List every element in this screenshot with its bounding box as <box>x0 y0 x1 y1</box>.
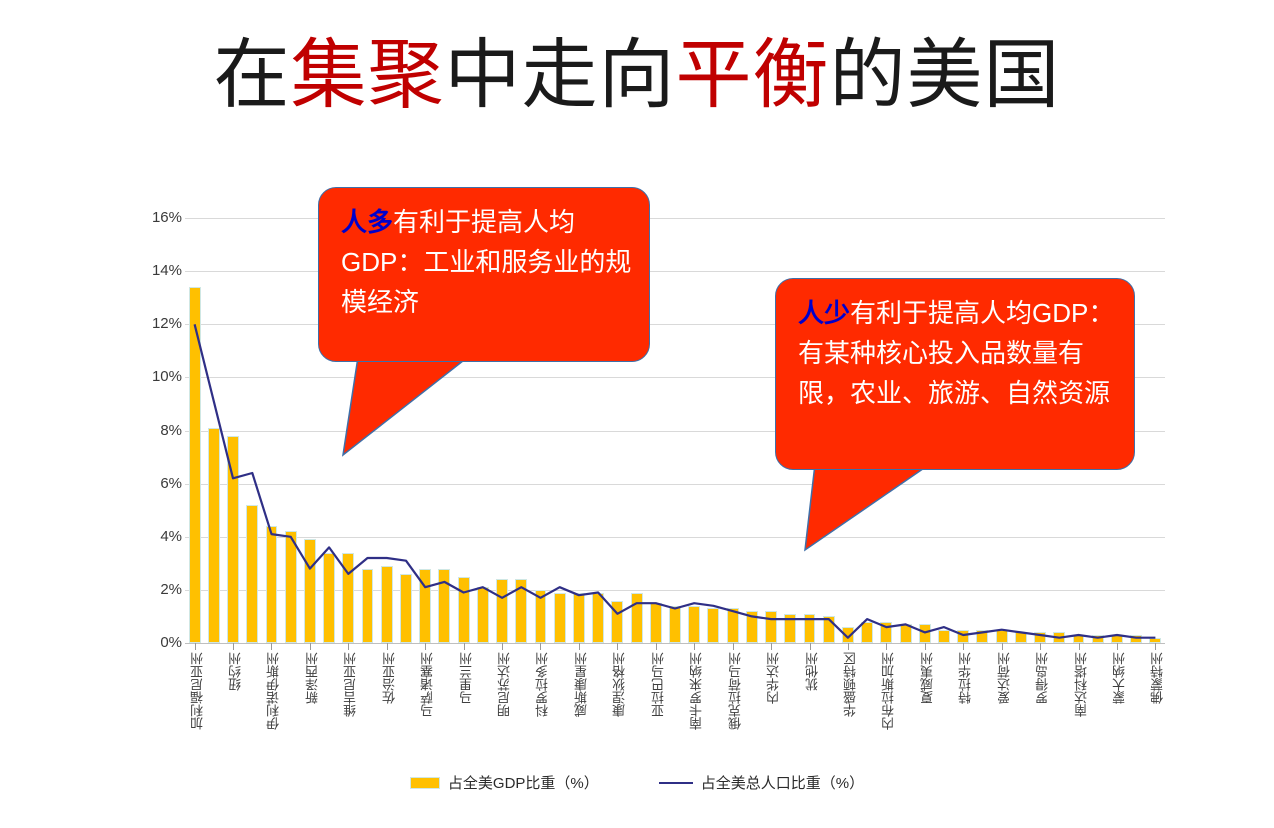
x-axis-label: 南卡罗来纳州 <box>687 652 706 730</box>
chart-legend: 占全美GDP比重（%） 占全美总人口比重（%） <box>0 772 1274 793</box>
callout-left-highlight: 人多 <box>341 207 393 237</box>
title-segment-1: 在 <box>214 33 291 118</box>
x-axis-tick <box>1002 643 1003 650</box>
x-axis-tick <box>1040 643 1041 650</box>
slide-canvas: 在集聚中走向平衡的美国 0%2%4%6%8%10%12%14%16% 加利福尼亚… <box>0 0 1274 828</box>
x-axis-tick <box>656 643 657 650</box>
x-axis-tick <box>387 643 388 650</box>
legend-label-gdp-share: 占全美GDP比重（%） <box>448 772 599 793</box>
x-axis-tick <box>271 643 272 650</box>
callout-left[interactable]: 人多有利于提高人均GDP：工业和服务业的规模经济 <box>318 187 658 462</box>
x-axis-label: 亚拉巴马州 <box>649 652 668 717</box>
x-axis-tick <box>963 643 964 650</box>
callout-right[interactable]: 人少有利于提高人均GDP：有某种核心投入品数量有限，农业、旅游、自然资源 <box>775 278 1143 558</box>
x-axis-label: 康涅狄格州 <box>610 652 629 717</box>
title-segment-4-highlight: 平衡 <box>676 33 830 118</box>
x-axis-tick <box>540 643 541 650</box>
x-axis-label: 纽约州 <box>226 652 245 691</box>
x-axis-tick <box>771 643 772 650</box>
x-axis-tick <box>694 643 695 650</box>
x-axis-tick <box>233 643 234 650</box>
x-axis-label: 明尼苏达州 <box>495 652 514 717</box>
x-axis-tick <box>579 643 580 650</box>
x-axis-label: 维吉尼亚州 <box>341 652 360 717</box>
x-axis-tick <box>1117 643 1118 650</box>
x-axis-label: 科罗拉多州 <box>533 652 552 717</box>
x-axis-tick <box>848 643 849 650</box>
x-axis-label: 马萨诸塞州 <box>418 652 437 717</box>
x-axis-tick <box>425 643 426 650</box>
x-axis-tick <box>502 643 503 650</box>
legend-swatch-line-icon <box>659 782 693 784</box>
x-axis-tick <box>195 643 196 650</box>
title-segment-2-highlight: 集聚 <box>291 33 445 118</box>
x-axis-tick <box>310 643 311 650</box>
x-axis-label: 内布拉斯加州 <box>879 652 898 730</box>
x-axis-label: 蒙大纳州 <box>1110 652 1129 704</box>
y-axis-tick-label: 0% <box>122 634 182 651</box>
x-axis-label: 夏威夷州 <box>918 652 937 704</box>
legend-swatch-bar-icon <box>410 777 440 789</box>
x-axis-tick <box>348 643 349 650</box>
legend-item-population-share[interactable]: 占全美总人口比重（%） <box>659 772 864 793</box>
x-axis-label: 佛蒙特州 <box>1148 652 1167 704</box>
x-axis-label: 犹他州 <box>803 652 822 691</box>
x-axis-tick <box>617 643 618 650</box>
x-axis-label: 加利福尼亚州 <box>188 652 207 730</box>
y-axis-tick-label: 8% <box>122 422 182 439</box>
callout-right-highlight: 人少 <box>798 298 850 328</box>
x-axis-label: 罗得岛州 <box>1033 652 1052 704</box>
callout-right-bubble: 人少有利于提高人均GDP：有某种核心投入品数量有限，农业、旅游、自然资源 <box>775 278 1135 470</box>
x-axis-label: 爱达荷州 <box>995 652 1014 704</box>
x-axis-label: 威斯康星州 <box>572 652 591 717</box>
y-axis-tick-label: 16% <box>122 209 182 226</box>
x-axis-label: 伊利诺伊斯州 <box>264 652 283 730</box>
x-axis-label: 马里兰州 <box>457 652 476 704</box>
y-axis-tick-label: 2% <box>122 581 182 598</box>
x-axis-tick <box>1155 643 1156 650</box>
x-axis-label: 华盛顿特区 <box>841 652 860 717</box>
y-axis-tick-label: 4% <box>122 528 182 545</box>
x-axis-label: 新泽西州 <box>303 652 322 704</box>
x-axis-tick <box>733 643 734 650</box>
x-axis-label: 俄克拉荷马州 <box>726 652 745 730</box>
x-axis-tick <box>886 643 887 650</box>
x-axis-tick <box>464 643 465 650</box>
legend-label-population-share: 占全美总人口比重（%） <box>701 772 864 793</box>
x-axis-tick <box>1079 643 1080 650</box>
x-axis-label: 南达科塔州 <box>1072 652 1091 717</box>
legend-item-gdp-share[interactable]: 占全美GDP比重（%） <box>410 772 599 793</box>
x-axis-label: 内华达州 <box>764 652 783 704</box>
x-axis-tick <box>810 643 811 650</box>
x-axis-tick <box>925 643 926 650</box>
x-axis-ticks <box>185 643 1165 651</box>
callout-left-bubble: 人多有利于提高人均GDP：工业和服务业的规模经济 <box>318 187 650 362</box>
y-axis-tick-label: 6% <box>122 475 182 492</box>
title-segment-3: 中走向 <box>445 33 676 118</box>
x-axis-labels: 加利福尼亚州纽约州伊利诺伊斯州新泽西州维吉尼亚州佐治亚州马萨诸塞州马里兰州明尼苏… <box>185 652 1165 772</box>
y-axis-tick-label: 10% <box>122 368 182 385</box>
y-axis-tick-label: 12% <box>122 315 182 332</box>
x-axis-label: 佐治亚州 <box>380 652 399 704</box>
x-axis-label: 特拉华州 <box>956 652 975 704</box>
y-axis-tick-label: 14% <box>122 262 182 279</box>
title-segment-5: 的美国 <box>830 33 1061 118</box>
page-title: 在集聚中走向平衡的美国 <box>0 34 1274 118</box>
